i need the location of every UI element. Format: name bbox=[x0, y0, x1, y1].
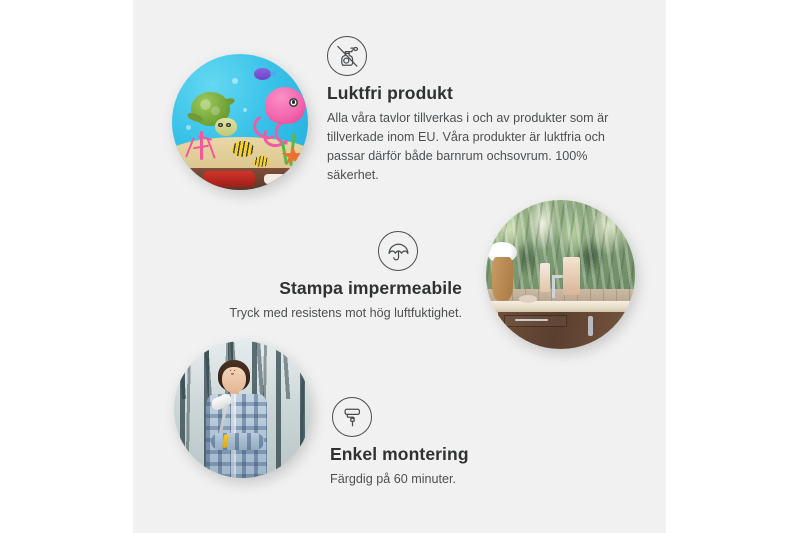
feature-title: Stampa impermeabile bbox=[195, 278, 462, 300]
folded-arms bbox=[211, 433, 264, 449]
feature-block-luktfri-produkt: Luktfri produkt Alla våra tavlor tillver… bbox=[327, 36, 627, 184]
photo-bottom-strip bbox=[172, 168, 308, 190]
octopus-head bbox=[265, 87, 305, 124]
wooden-vanity-cabinet bbox=[498, 312, 635, 349]
yellow-striped-fish-icon bbox=[254, 156, 269, 167]
gold-vase bbox=[492, 257, 513, 302]
woman-with-paint-roller-circle-photo bbox=[174, 341, 311, 478]
feature-body: Färgdig på 60 minuter. bbox=[330, 470, 590, 489]
soap-dish bbox=[519, 295, 537, 302]
eye bbox=[230, 370, 232, 371]
octopus-eye bbox=[289, 98, 298, 107]
underwater-cartoon-circle-photo bbox=[172, 54, 308, 190]
bathroom-tropical-wallpaper-circle-photo bbox=[486, 200, 635, 349]
feature-title: Luktfri produkt bbox=[327, 83, 627, 105]
feature-title: Enkel montering bbox=[330, 444, 590, 466]
paint-roller-icon bbox=[332, 397, 372, 437]
purple-fish-icon bbox=[254, 68, 272, 80]
faucet bbox=[552, 275, 556, 299]
feature-body: Tryck med resistens mot hög luftfuktighe… bbox=[195, 304, 462, 323]
feature-block-stampa-impermeabile: Stampa impermeabile Tryck med resistens … bbox=[195, 231, 462, 323]
cabinet-door-handle bbox=[588, 316, 592, 335]
woman-figure bbox=[204, 360, 275, 478]
rolled-towel bbox=[540, 263, 550, 293]
smile bbox=[231, 372, 234, 375]
yellow-striped-fish-icon bbox=[232, 141, 254, 157]
photo-3-art bbox=[174, 341, 311, 478]
drawer-pull-handle bbox=[515, 319, 547, 321]
eye bbox=[234, 370, 236, 371]
cabinet-door-handle bbox=[626, 316, 630, 335]
screenshot-root: Luktfri produkt Alla våra tavlor tillver… bbox=[0, 0, 800, 533]
photo-2-art bbox=[486, 200, 635, 349]
octopus-figure bbox=[251, 87, 305, 147]
umbrella-icon bbox=[378, 231, 418, 271]
pink-coral-figure bbox=[183, 125, 224, 160]
no-fragrance-spray-bottle-icon bbox=[327, 36, 367, 76]
photo-1-art bbox=[172, 54, 308, 190]
rolled-towel bbox=[563, 257, 579, 296]
feature-block-enkel-montering: Enkel montering Färgdig på 60 minuter. bbox=[330, 397, 590, 489]
feature-body: Alla våra tavlor tillverkas i och av pro… bbox=[327, 109, 627, 185]
